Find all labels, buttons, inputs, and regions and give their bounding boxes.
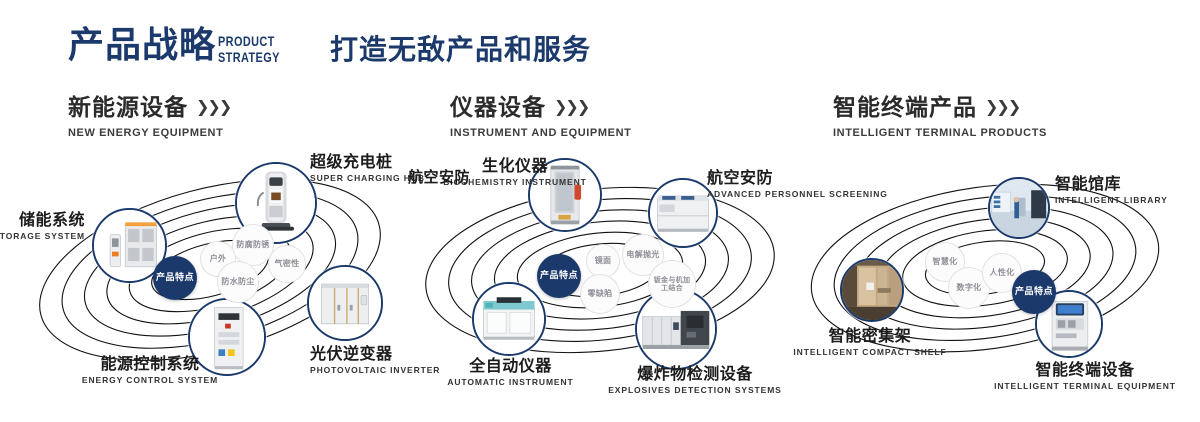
feature-bubble-label: 产品特点 — [1015, 287, 1053, 297]
feature-bubble-main: 产品特点 — [537, 254, 581, 298]
section-title-cn-text: 智能终端产品 — [833, 95, 977, 121]
chevrons-right-icon: ❯❯❯ — [196, 99, 230, 115]
feature-bubble-label: 防腐防锈 — [236, 240, 269, 249]
node-label-cn: 能源控制系统 — [30, 356, 270, 373]
node-label-en: EXPLOSIVES DETECTION SYSTEMS — [600, 385, 790, 396]
node-label-cn: 储能系统 — [0, 212, 85, 229]
page-header: 产品战略 PRODUCT STRATEGY 打造无敌产品和服务 — [0, 0, 1200, 86]
page-title-cn: 产品战略 — [68, 28, 216, 64]
cluster-intelligent-terminal: 智能馆库 INTELLIGENT LIBRARY 智能密集架 INTELLIGE… — [790, 150, 1190, 412]
photovoltaic-inverter-photo — [309, 267, 381, 339]
feature-bubble-mirror: 镜面 — [586, 244, 620, 278]
node-label-automatic-instrument: 全自动仪器 AUTOMATIC INSTRUMENT — [428, 358, 593, 388]
node-label-en: INTELLIGENT COMPACT SHELF — [780, 347, 960, 358]
node-label-en: ENERGY STORAGE SYSTEM — [0, 231, 85, 242]
node-label-en: AUTOMATIC INSTRUMENT — [428, 377, 593, 388]
page-slogan: 打造无敌产品和服务 — [330, 36, 591, 64]
node-label-intelligent-terminal-equipment: 智能终端设备 INTELLIGENT TERMINAL EQUIPMENT — [980, 362, 1190, 392]
node-label-cn: 智能馆库 — [1055, 176, 1168, 193]
section-title-new-energy: 新能源设备❯❯❯ NEW ENERGY EQUIPMENT — [68, 97, 230, 139]
section-title-en: INTELLIGENT TERMINAL PRODUCTS — [833, 128, 1047, 139]
feature-bubble-label: 防水防尘 — [221, 277, 254, 286]
node-label-energy-storage-system: 储能系统 ENERGY STORAGE SYSTEM — [0, 212, 85, 242]
feature-bubble-main: 产品特点 — [1012, 270, 1056, 314]
node-label-cn: 全自动仪器 — [428, 358, 593, 375]
section-title-cn-text: 新能源设备 — [68, 95, 188, 121]
node-label-aviation-security-aux: 航空安防 — [408, 170, 470, 186]
section-title-cn-text: 仪器设备 — [450, 95, 546, 121]
section-title-en: INSTRUMENT AND EQUIPMENT — [450, 128, 631, 139]
feature-bubble-label: 镜面 — [595, 256, 612, 265]
feature-bubble-zero-defect: 零缺陷 — [580, 274, 620, 314]
section-title-instrument: 仪器设备❯❯❯ INSTRUMENT AND EQUIPMENT — [450, 97, 631, 139]
node-automatic-instrument[interactable] — [472, 282, 546, 356]
feature-bubble-label: 产品特点 — [156, 273, 194, 283]
feature-bubble-main: 产品特点 — [153, 256, 197, 300]
feature-bubble-label: 零缺陷 — [588, 289, 613, 298]
page-title-en-line1: PRODUCT — [218, 33, 280, 49]
intelligent-compact-shelf-photo — [842, 260, 902, 320]
section-title-en: NEW ENERGY EQUIPMENT — [68, 128, 230, 139]
node-intelligent-library[interactable] — [988, 177, 1050, 239]
automatic-instrument-photo — [474, 284, 544, 354]
node-label-cn: 爆炸物检测设备 — [600, 366, 790, 383]
section-title-intelligent: 智能终端产品❯❯❯ INTELLIGENT TERMINAL PRODUCTS — [833, 97, 1047, 139]
node-label-en: INTELLIGENT LIBRARY — [1055, 195, 1168, 206]
chevrons-right-icon: ❯❯❯ — [554, 99, 588, 115]
feature-bubble-label: 户外 — [210, 254, 227, 263]
feature-bubble-label: 钣金与机加工结合 — [651, 276, 693, 292]
node-label-cn: 智能终端设备 — [980, 362, 1190, 379]
cluster-new-energy: 超级充电桩 SUPER CHARGING HUB 储能系统 ENERGY STO… — [10, 150, 410, 412]
section-title-cn: 新能源设备❯❯❯ — [68, 97, 230, 120]
section-title-cn: 仪器设备❯❯❯ — [450, 97, 631, 120]
node-photovoltaic-inverter[interactable] — [307, 265, 383, 341]
page-title-en-line2: STRATEGY — [218, 49, 280, 65]
feature-bubble-airtight: 气密性 — [268, 245, 306, 283]
page-title-en: PRODUCT STRATEGY — [218, 33, 280, 65]
feature-bubble-label: 产品特点 — [540, 271, 578, 281]
product-strategy-infographic: 产品战略 PRODUCT STRATEGY 打造无敌产品和服务 新能源设备❯❯❯… — [0, 0, 1200, 422]
feature-bubble-label: 智慧化 — [933, 257, 958, 266]
chevrons-right-icon: ❯❯❯ — [985, 99, 1019, 115]
node-label-explosives-detection-system: 爆炸物检测设备 EXPLOSIVES DETECTION SYSTEMS — [600, 366, 790, 396]
section-title-cn: 智能终端产品❯❯❯ — [833, 97, 1047, 120]
node-label-energy-control-system: 能源控制系统 ENERGY CONTROL SYSTEM — [30, 356, 270, 386]
node-label-cn: 智能密集架 — [780, 328, 960, 345]
feature-bubble-label: 气密性 — [275, 259, 300, 268]
feature-bubble-label: 数字化 — [957, 283, 982, 292]
node-label-cn: 航空安防 — [408, 170, 470, 186]
cluster-instrument: 生化仪器 BIOCHEMISTRY INSTRUMENT 航空安防 航空安防 A… — [400, 150, 800, 412]
node-label-intelligent-compact-shelf: 智能密集架 INTELLIGENT COMPACT SHELF — [780, 328, 960, 358]
feature-bubble-waterproof: 防水防尘 — [217, 261, 259, 303]
node-label-intelligent-library: 智能馆库 INTELLIGENT LIBRARY — [1055, 176, 1168, 206]
intelligent-library-room-photo — [990, 179, 1048, 237]
node-intelligent-compact-shelf[interactable] — [840, 258, 904, 322]
feature-bubble-label: 电解抛光 — [626, 250, 659, 259]
feature-bubble-sheetmetal-machining: 钣金与机加工结合 — [648, 260, 696, 308]
node-label-en: ENERGY CONTROL SYSTEM — [30, 375, 270, 386]
feature-bubble-label: 人性化 — [990, 268, 1015, 277]
node-label-en: INTELLIGENT TERMINAL EQUIPMENT — [980, 381, 1190, 392]
